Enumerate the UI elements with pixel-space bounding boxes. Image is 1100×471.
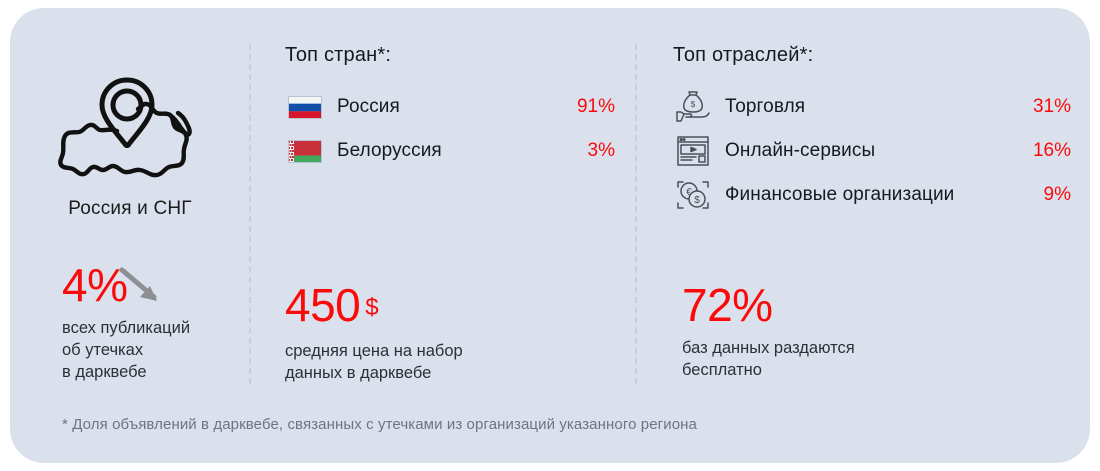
stat-desc-line: об утечках <box>62 339 190 361</box>
stat-description: средняя цена на набор данных в дарквебе <box>285 340 463 384</box>
stat-desc-line: данных в дарквебе <box>285 362 463 384</box>
industry-percent: 9% <box>1044 184 1071 206</box>
industry-row-trade: $ Торговля 31% <box>673 85 1071 129</box>
stat-desc-line: в дарквебе <box>62 361 190 383</box>
svg-text:$: $ <box>694 195 700 206</box>
industry-row-financial: € $ Финансовые организации 9% <box>673 173 1071 217</box>
flag-belarus-icon <box>285 140 325 163</box>
stat-desc-line: всех публикаций <box>62 317 190 339</box>
column-title-countries: Топ стран*: <box>285 44 615 67</box>
arrow-down-right-icon <box>116 264 172 312</box>
country-row-russia: Россия 91% <box>285 85 615 129</box>
stat-value: 72% <box>682 280 855 330</box>
currency-symbol: $ <box>365 294 378 321</box>
industry-label: Торговля <box>713 96 1033 118</box>
stat-value-number: 450 <box>285 279 360 331</box>
flag-russia-icon <box>285 96 325 119</box>
svg-text:$: $ <box>691 100 696 109</box>
country-percent: 3% <box>588 140 615 162</box>
top-industries-column: Топ отраслей*: $ Торговля 31% <box>673 44 1071 217</box>
coins-euro-dollar-icon: € $ <box>673 178 713 212</box>
stat-description: баз данных раздаются бесплатно <box>682 337 855 381</box>
country-label: Белоруссия <box>325 140 588 162</box>
region-block: Россия и СНГ <box>30 68 230 220</box>
stat-description: всех публикаций об утечках в дарквебе <box>62 317 190 383</box>
country-label: Россия <box>325 96 577 118</box>
column-title-industries: Топ отраслей*: <box>673 44 1071 67</box>
infographic-card: Россия и СНГ 4% всех публикаций об утечк… <box>10 8 1090 463</box>
stat-desc-line: баз данных раздаются <box>682 337 855 359</box>
industry-row-online-services: Онлайн-сервисы 16% <box>673 129 1071 173</box>
industry-percent: 31% <box>1033 96 1071 118</box>
divider-countries <box>249 44 251 384</box>
industry-label: Онлайн-сервисы <box>713 140 1033 162</box>
country-percent: 91% <box>577 96 615 118</box>
stat-desc-line: бесплатно <box>682 359 855 381</box>
stat-desc-line: средняя цена на набор <box>285 340 463 362</box>
browser-video-icon <box>673 135 713 167</box>
money-bag-hand-icon: $ <box>673 90 713 124</box>
top-countries-column: Топ стран*: Россия 91% <box>285 44 615 173</box>
stat-average-price: 450$ средняя цена на набор данных в дарк… <box>285 280 463 384</box>
industry-percent: 16% <box>1033 140 1071 162</box>
industry-label: Финансовые организации <box>713 184 1044 206</box>
country-row-belarus: Белоруссия 3% <box>285 129 615 173</box>
stat-value: 450$ <box>285 280 463 333</box>
stat-free-databases: 72% баз данных раздаются бесплатно <box>682 280 855 381</box>
footnote: * Доля объявлений в дарквебе, связанных … <box>62 416 697 433</box>
russia-map-pin-icon <box>55 68 205 186</box>
region-label: Россия и СНГ <box>30 198 230 220</box>
divider-industries <box>635 44 637 384</box>
